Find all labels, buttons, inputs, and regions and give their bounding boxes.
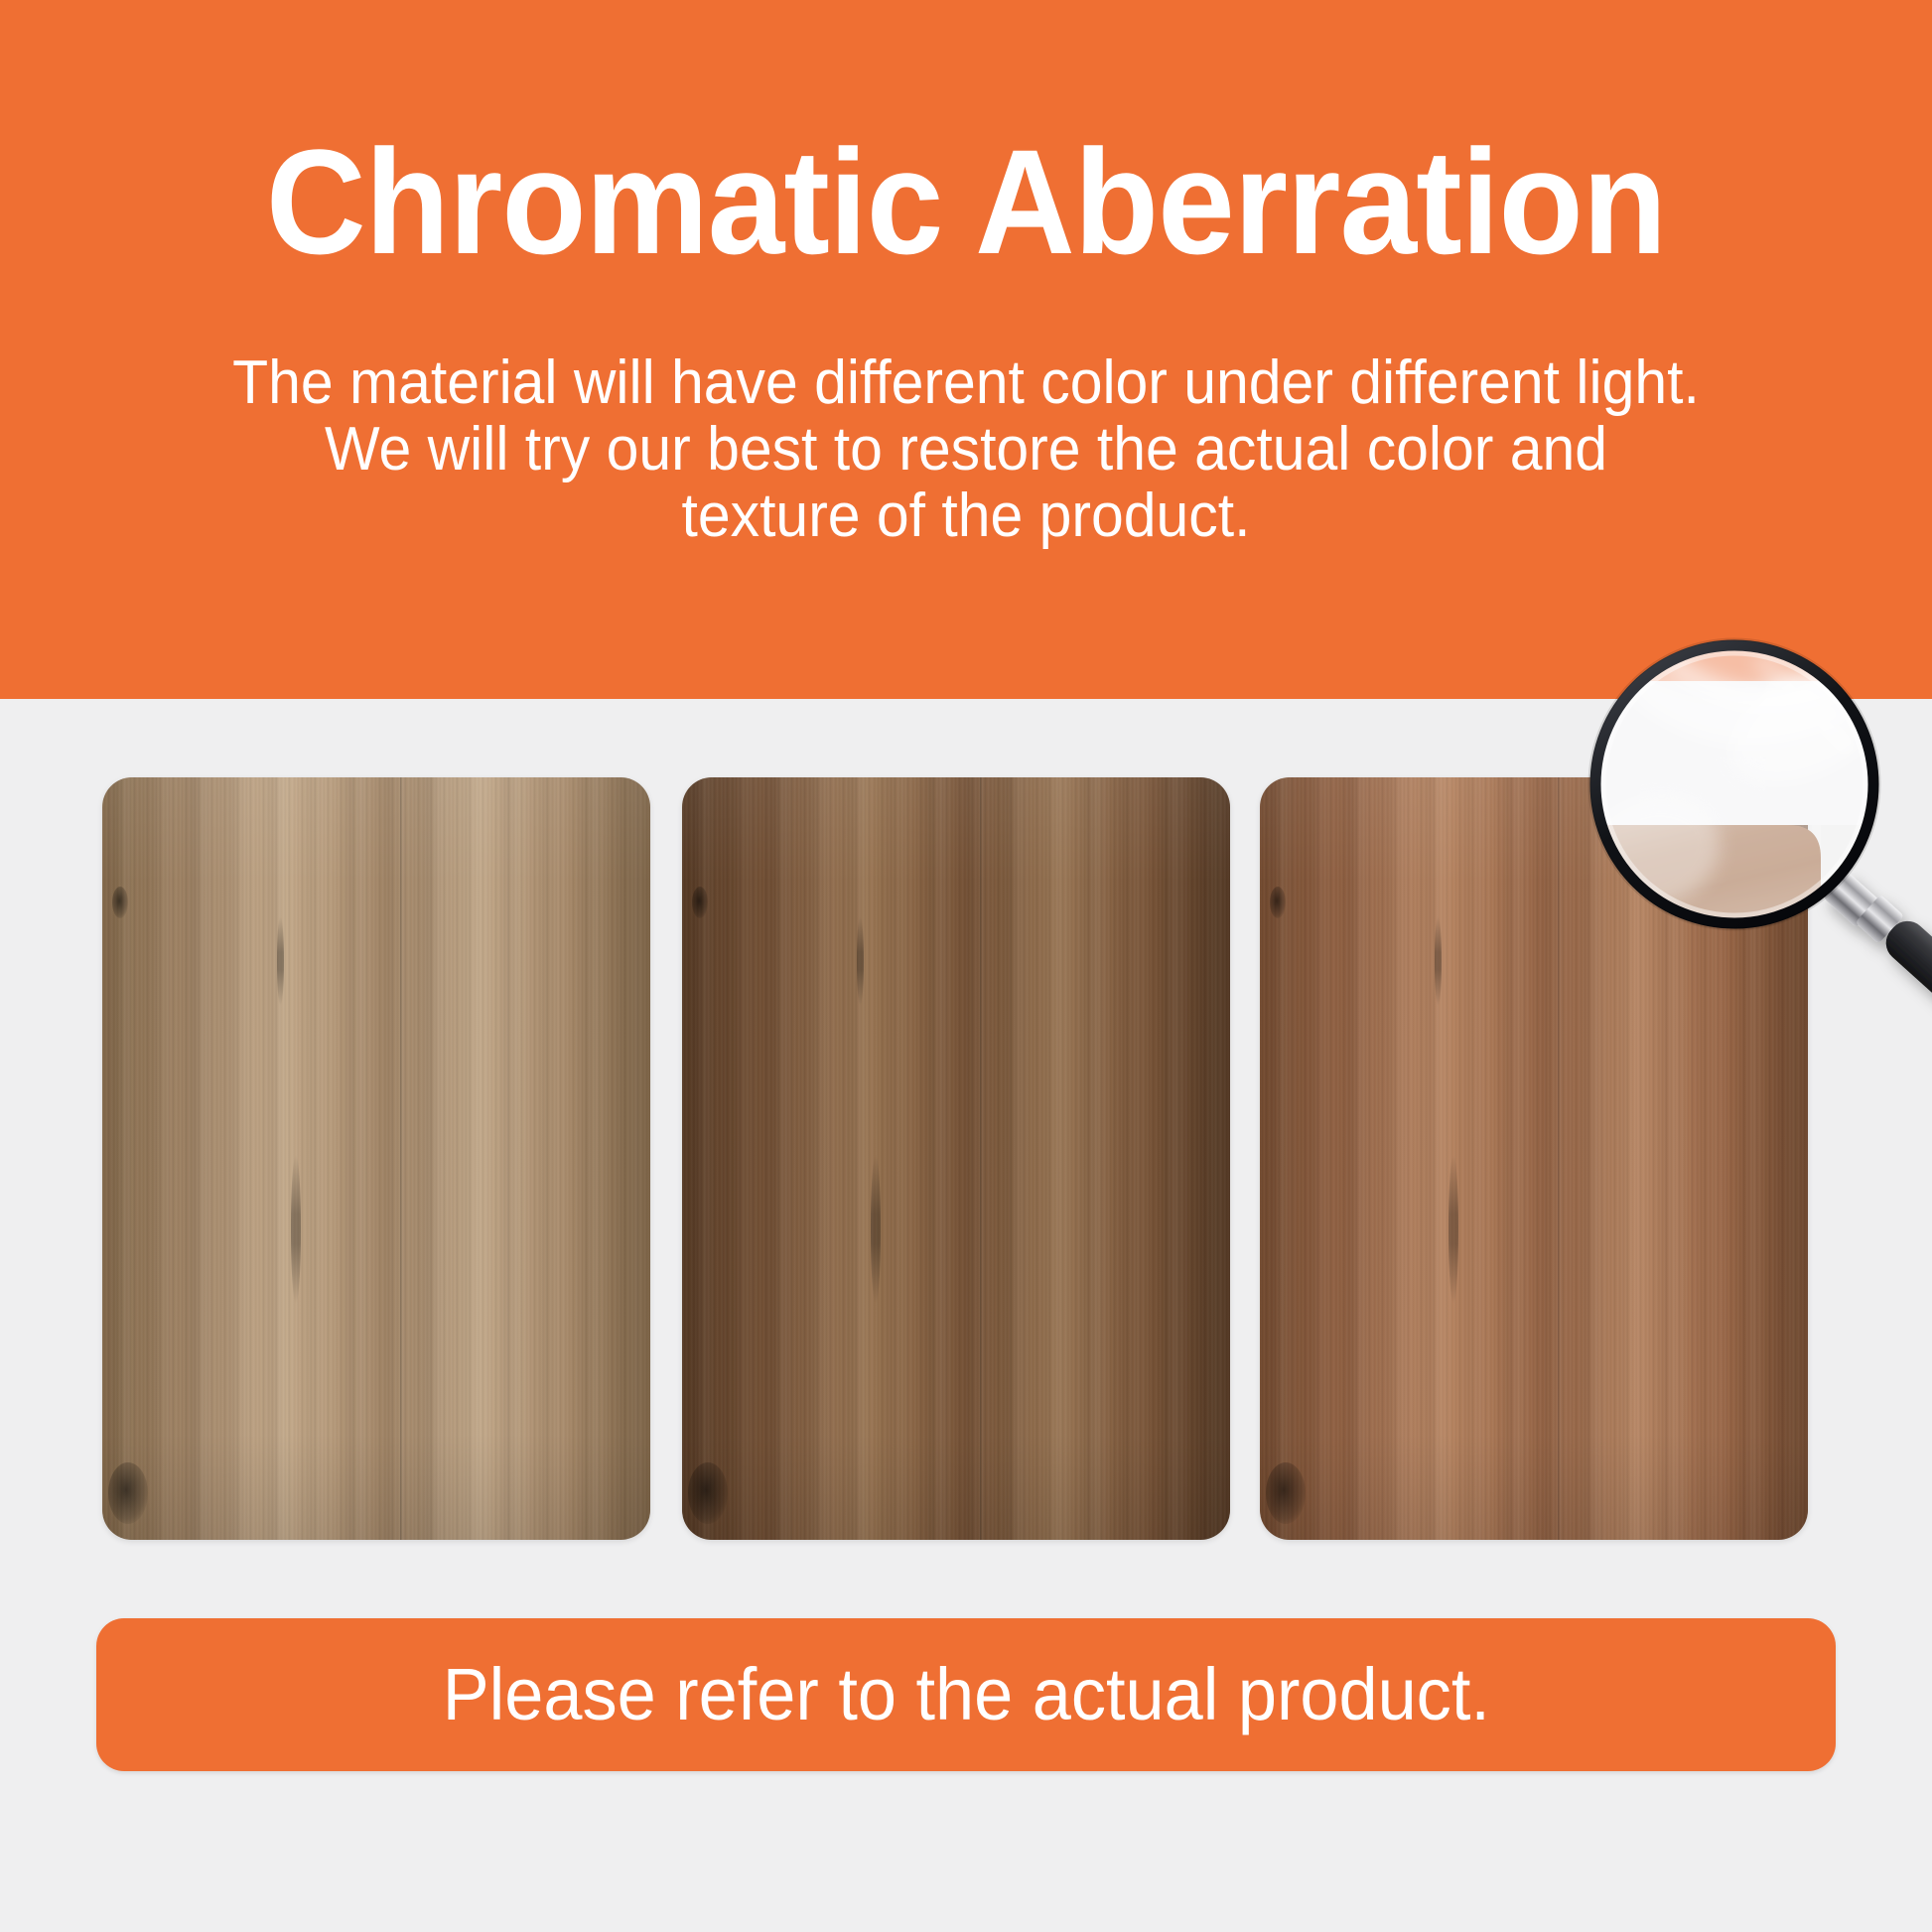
- page-title: Chromatic Aberration: [68, 127, 1864, 276]
- wood-texture: [1260, 777, 1808, 1540]
- wood-texture: [682, 777, 1230, 1540]
- magnifier-handle: [1823, 871, 1932, 1044]
- header-subtitle: The material will have different color u…: [117, 349, 1815, 549]
- wood-vignette: [682, 777, 1230, 1540]
- swatch-medium-chestnut[interactable]: [1260, 777, 1808, 1540]
- swatch-dark-walnut[interactable]: [682, 777, 1230, 1540]
- subtitle-line-2: We will try our best to restore the actu…: [117, 416, 1815, 483]
- promo-card: Chromatic Aberration The material will h…: [0, 0, 1932, 1932]
- header-band: Chromatic Aberration The material will h…: [0, 0, 1932, 699]
- subtitle-line-3: texture of the product.: [117, 483, 1815, 549]
- wood-vignette: [1260, 777, 1808, 1540]
- swatch-row: [102, 777, 1808, 1540]
- wood-texture: [102, 777, 650, 1540]
- swatch-light-oak[interactable]: [102, 777, 650, 1540]
- wood-vignette: [102, 777, 650, 1540]
- subtitle-line-1: The material will have different color u…: [117, 349, 1815, 416]
- refer-to-actual-product-button[interactable]: Please refer to the actual product.: [96, 1618, 1836, 1771]
- cta-label: Please refer to the actual product.: [442, 1658, 1489, 1731]
